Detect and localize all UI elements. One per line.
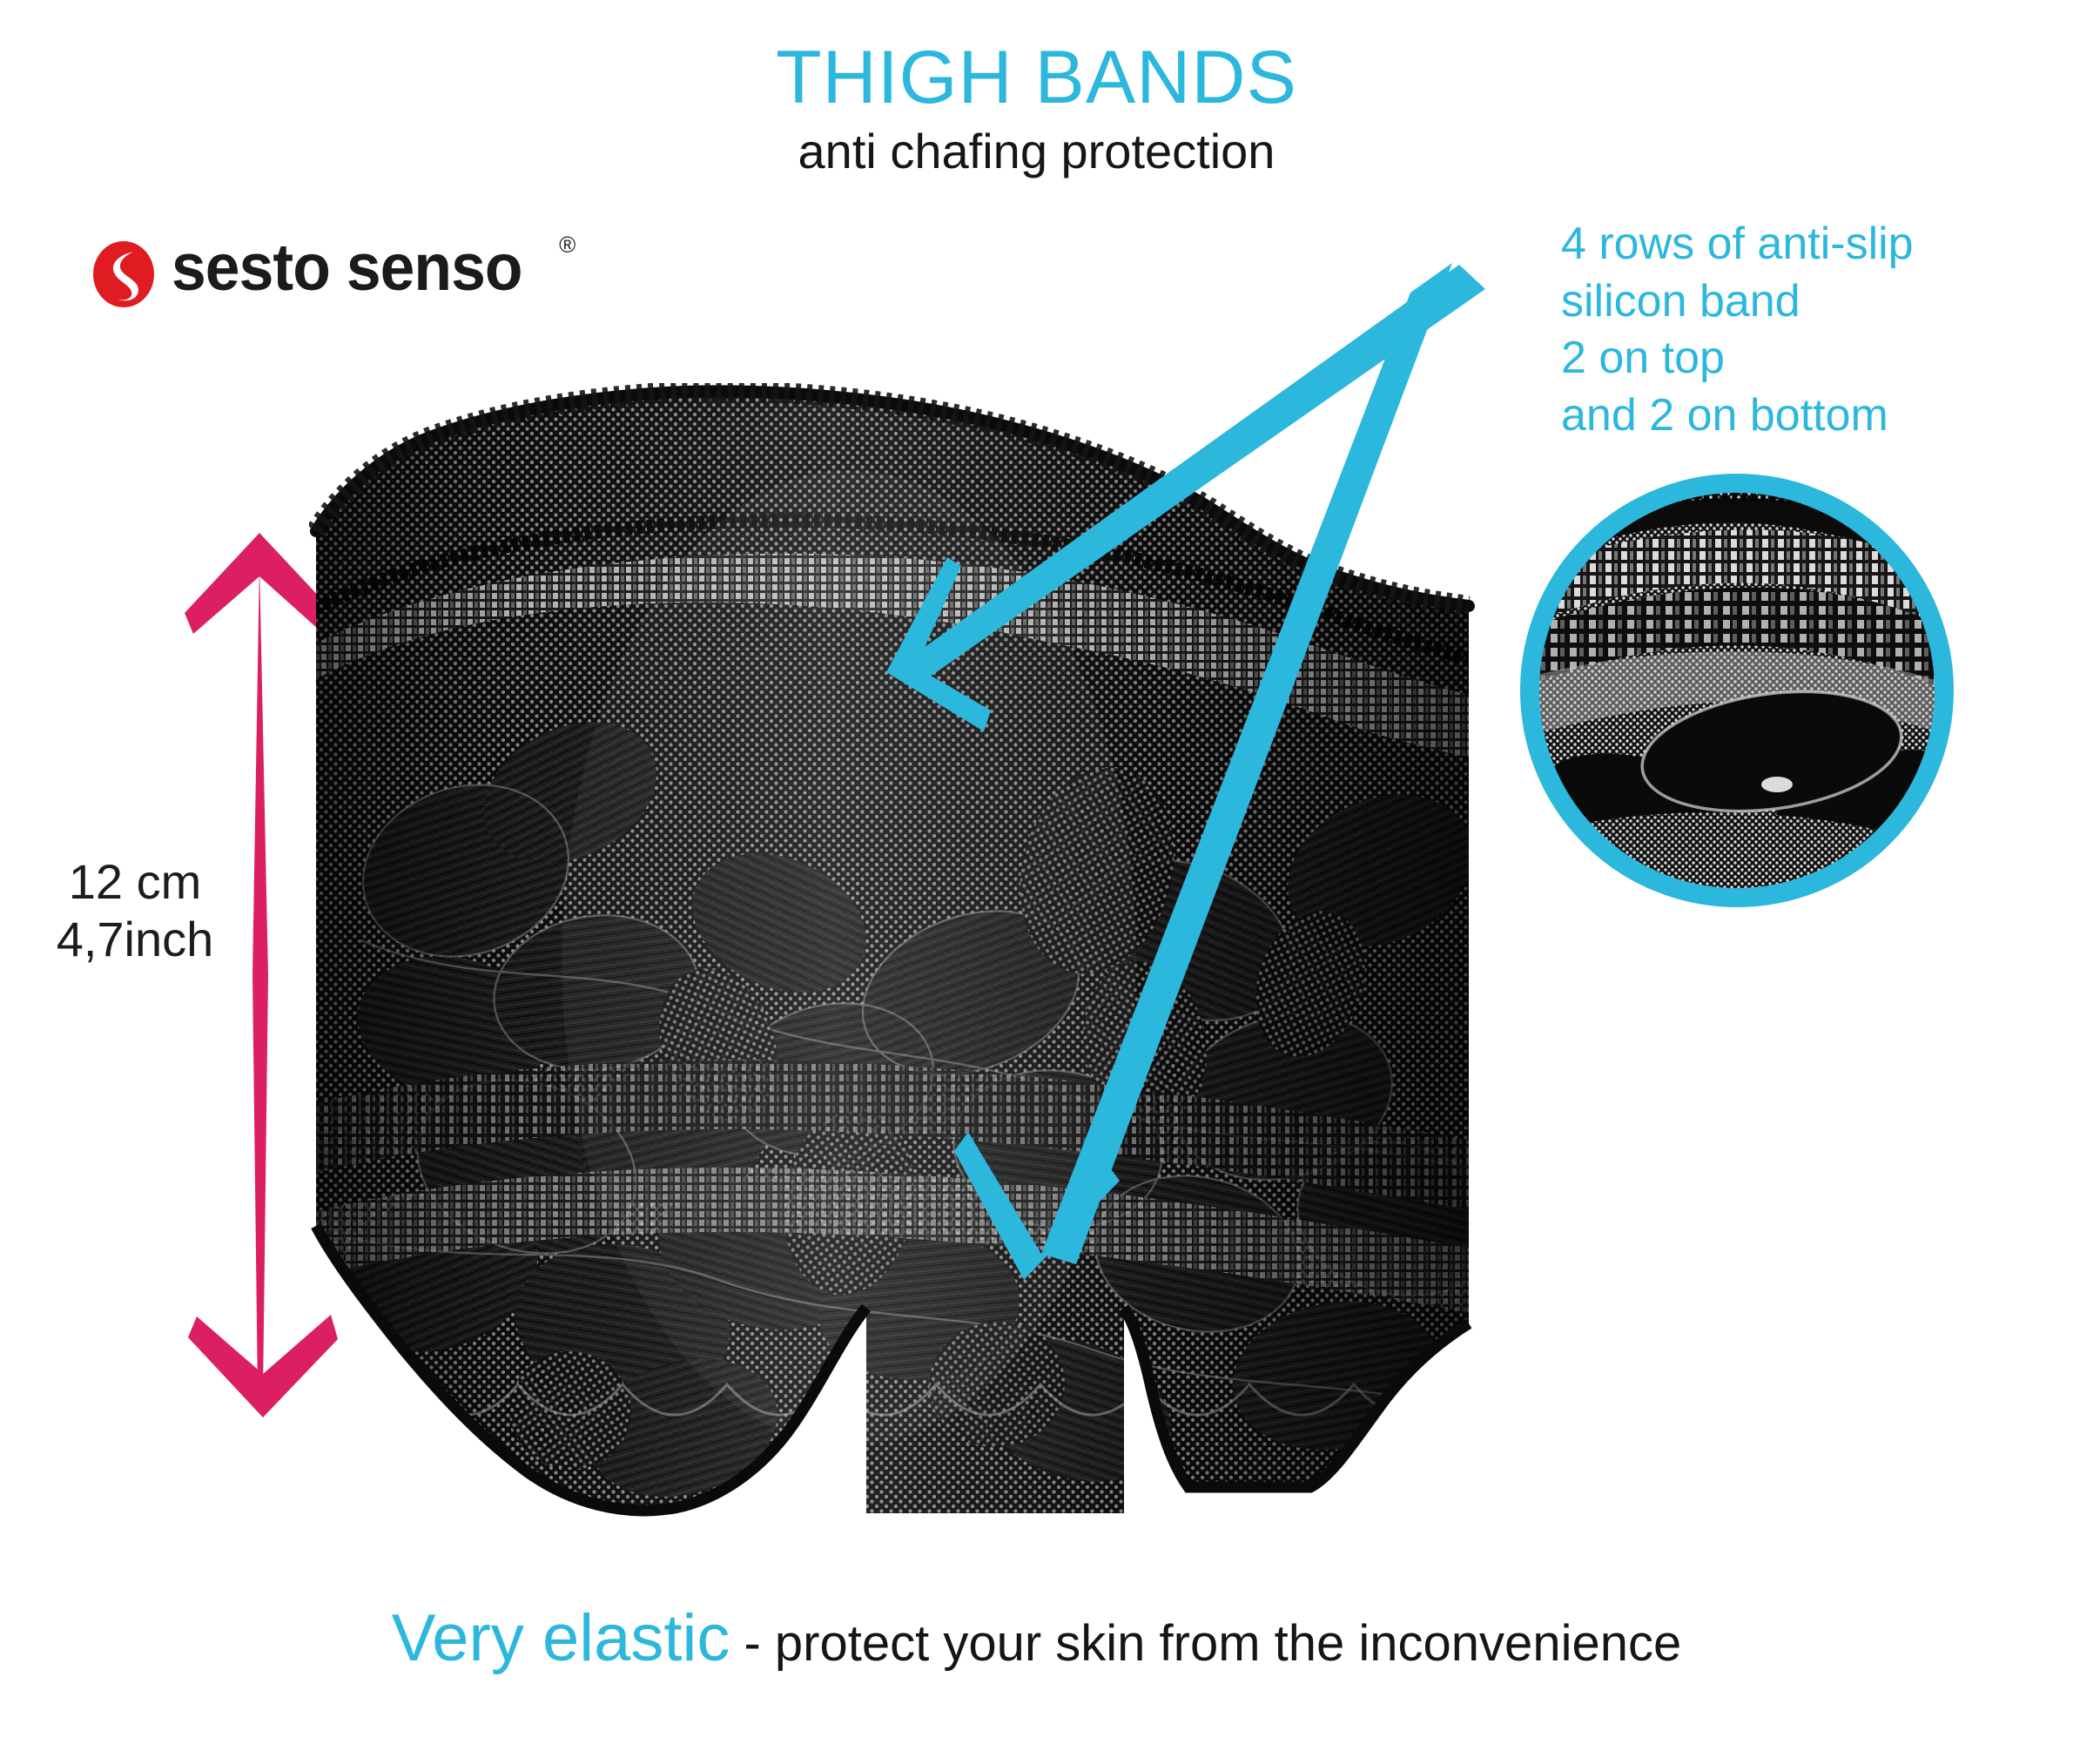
footer-caption: Very elastic - protect your skin from th… [0, 1600, 2073, 1676]
page-subtitle: anti chafing protection [0, 127, 2073, 176]
callout-line-1: 4 rows of anti-slip [1561, 216, 2049, 273]
detail-zoom-circle [1511, 464, 1963, 917]
sesto-senso-s-mark-icon [91, 240, 156, 308]
page-title: THIGH BANDS [0, 40, 2073, 115]
callout-line-2: silicon band [1561, 273, 2049, 331]
infographic-canvas: THIGH BANDS anti chafing protection sest… [0, 0, 2073, 1764]
dimension-value-cm: 12 cm [52, 853, 218, 911]
silicon-band-callout: 4 rows of anti-slip silicon band 2 on to… [1561, 216, 2049, 444]
dimension-labels: 12 cm 4,7inch [52, 853, 218, 968]
footer-caption-lead: Very elastic [392, 1601, 730, 1675]
brand-name: sesto senso [172, 237, 522, 300]
callout-line-4: and 2 on bottom [1561, 387, 2049, 445]
brand-logo: sesto senso ® [91, 237, 544, 308]
dimension-value-inch: 4,7inch [52, 911, 218, 968]
footer-caption-rest: - protect your skin from the inconvenien… [730, 1615, 1681, 1672]
product-photo-lace-band [309, 383, 1476, 1541]
registered-trademark-icon: ® [559, 232, 575, 259]
callout-line-3: 2 on top [1561, 330, 2049, 387]
dimension-annotation: 12 cm 4,7inch [52, 522, 340, 1428]
header: THIGH BANDS anti chafing protection [0, 40, 2073, 176]
brand-logo-text-wrap: sesto senso ® [172, 237, 544, 300]
